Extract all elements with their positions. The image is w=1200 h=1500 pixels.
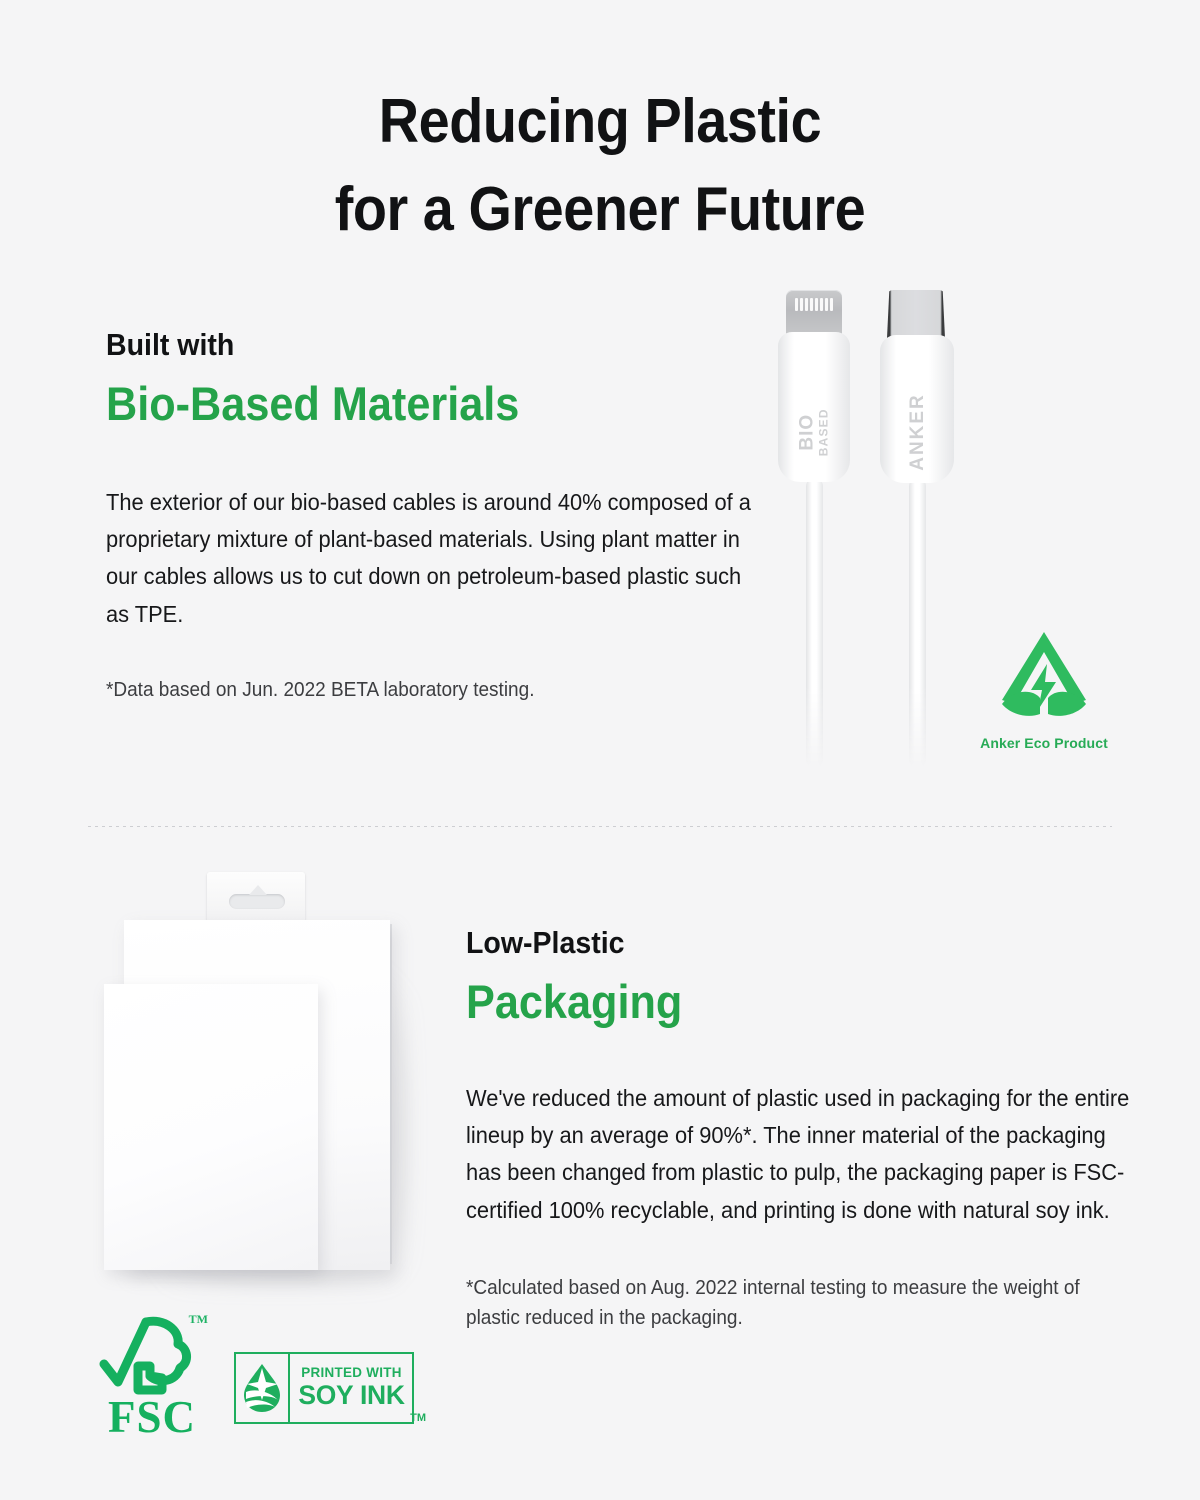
- soy-ink-text-panel: PRINTED WITH SOY INK: [290, 1354, 412, 1422]
- usbc-tip-icon: [887, 290, 945, 338]
- cable-cord-lightning: [806, 478, 823, 768]
- usbc-connector: ANKER: [880, 290, 952, 483]
- usbc-housing: ANKER: [880, 335, 954, 483]
- fsc-tree-check-icon: [92, 1312, 204, 1404]
- soybean-droplet-icon: [242, 1362, 282, 1414]
- soy-ink-certification-logo: PRINTED WITH SOY INK TM: [234, 1352, 414, 1424]
- bio-label-line-1: BIO: [797, 414, 818, 451]
- section1-body: The exterior of our bio-based cables is …: [106, 484, 752, 633]
- section-packaging-text: Low-Plastic Packaging We've reduced the …: [466, 924, 1156, 1333]
- packaging-hang-tab: [207, 872, 305, 922]
- section1-eyebrow: Built with: [106, 326, 713, 365]
- fsc-wordmark: FSC: [92, 1395, 212, 1440]
- packaging-hang-hole: [229, 894, 285, 909]
- soy-ink-trademark: TM: [410, 1412, 426, 1424]
- bio-label-line-2: BASED: [818, 390, 831, 474]
- section2-headline: Packaging: [466, 971, 1101, 1032]
- eco-badge-label: Anker Eco Product: [968, 735, 1120, 751]
- bio-based-print-label: BIO BASED: [798, 390, 831, 474]
- page-title-line-1: Reducing Plastic: [60, 78, 1140, 166]
- page-title: Reducing Plastic for a Greener Future: [60, 78, 1140, 254]
- anker-eco-product-badge: Anker Eco Product: [968, 628, 1120, 751]
- lightning-pins: [795, 298, 833, 311]
- lightning-connector: BIO BASED: [778, 290, 850, 482]
- infographic-page: Reducing Plastic for a Greener Future Bu…: [0, 0, 1200, 1500]
- cable-cord-usbc: [909, 478, 926, 768]
- packaging-box-front: [104, 984, 318, 1270]
- section2-body: We've reduced the amount of plastic used…: [466, 1080, 1131, 1229]
- soy-ink-droplet-panel: [236, 1354, 290, 1422]
- section1-headline: Bio-Based Materials: [106, 373, 713, 434]
- soy-ink-top-text: PRINTED WITH: [298, 1365, 405, 1379]
- section-bio-based-text: Built with Bio-Based Materials The exter…: [106, 326, 766, 705]
- lightning-housing: BIO BASED: [778, 332, 850, 482]
- page-title-line-2: for a Greener Future: [60, 166, 1140, 254]
- fsc-trademark: TM: [189, 1312, 208, 1327]
- eco-leaf-bolt-icon: [990, 628, 1098, 722]
- lightning-tip-icon: [786, 290, 842, 336]
- cable-product-image: BIO BASED ANKER: [752, 290, 982, 790]
- section1-footnote: *Data based on Jun. 2022 BETA laboratory…: [106, 675, 733, 705]
- anker-brand-print-label: ANKER: [907, 384, 929, 480]
- section2-eyebrow: Low-Plastic: [466, 924, 1101, 963]
- packaging-product-image: [88, 862, 428, 1302]
- section2-footnote: *Calculated based on Aug. 2022 internal …: [466, 1273, 1131, 1333]
- section-divider: [88, 826, 1112, 827]
- soy-ink-main-text: SOY INK: [297, 1381, 406, 1409]
- fsc-certification-logo: TM FSC: [92, 1312, 212, 1440]
